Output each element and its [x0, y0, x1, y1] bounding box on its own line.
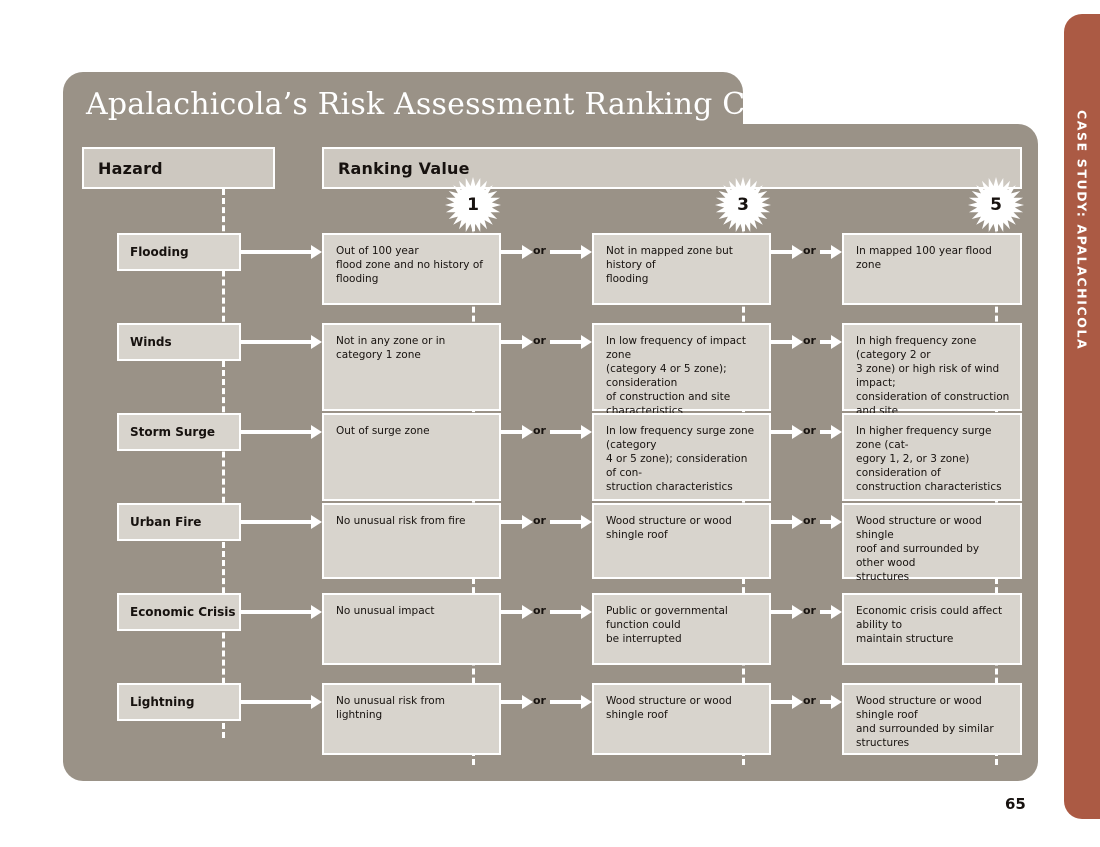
or-connector-label: or: [803, 604, 816, 617]
hazard-label-urban-fire: Urban Fire: [117, 503, 241, 541]
ranking-marker-value: 5: [967, 176, 1025, 234]
or-connector-label: or: [533, 334, 546, 347]
hazard-label-text: Economic Crisis: [119, 605, 236, 619]
or-connector-label: or: [533, 244, 546, 257]
criteria-box-economic-crisis-level1: No unusual impact: [322, 593, 501, 665]
arrow-or-left-row5-1: [501, 605, 533, 619]
criteria-text: In low frequency of impact zone(category…: [606, 334, 759, 418]
criteria-text: Wood structure or wood shingleroof and s…: [856, 514, 1010, 584]
criteria-box-economic-crisis-level5: Economic crisis could affect ability tom…: [842, 593, 1022, 665]
criteria-text: No unusual risk from lightning: [336, 694, 489, 722]
column-header-hazard-label: Hazard: [84, 159, 163, 178]
hazard-label-storm-surge: Storm Surge: [117, 413, 241, 451]
column-header-hazard: Hazard: [82, 147, 275, 189]
criteria-text: Out of surge zone: [336, 424, 489, 438]
or-connector-label: or: [803, 424, 816, 437]
criteria-text: No unusual risk from fire: [336, 514, 489, 528]
arrow-or-left-row3-1: [501, 425, 533, 439]
ranking-marker-value: 3: [714, 176, 772, 234]
criteria-text: Public or governmental function couldbe …: [606, 604, 759, 646]
criteria-box-urban-fire-level5: Wood structure or wood shingleroof and s…: [842, 503, 1022, 579]
arrow-or-left-row1-1: [501, 245, 533, 259]
arrow-or-left-row2-2: [771, 335, 803, 349]
criteria-box-urban-fire-level3: Wood structure or wood shingle roof: [592, 503, 771, 579]
arrow-or-right-row4-1: [550, 515, 592, 529]
criteria-text: Out of 100 yearflood zone and no history…: [336, 244, 489, 286]
or-connector-label: or: [803, 244, 816, 257]
ranking-marker-value: 1: [444, 176, 502, 234]
column-header-ranking-value-label: Ranking Value: [324, 159, 470, 178]
arrow-or-left-row4-2: [771, 515, 803, 529]
arrow-hazard-to-level1-row5: [241, 605, 322, 619]
arrow-or-right-row2-2: [820, 335, 842, 349]
criteria-box-winds-level3: In low frequency of impact zone(category…: [592, 323, 771, 411]
arrow-or-right-row3-2: [820, 425, 842, 439]
arrow-or-right-row5-2: [820, 605, 842, 619]
criteria-text: In higher frequency surge zone (cat-egor…: [856, 424, 1010, 494]
or-connector-label: or: [803, 694, 816, 707]
hazard-label-text: Flooding: [119, 245, 189, 259]
page-title: Apalachicola’s Risk Assessment Ranking C…: [86, 87, 842, 122]
criteria-text: Wood structure or wood shingle roofand s…: [856, 694, 1010, 750]
column-header-ranking-value: Ranking Value: [322, 147, 1022, 189]
ranking-marker-1: 1: [444, 176, 502, 234]
hazard-label-text: Winds: [119, 335, 172, 349]
arrow-hazard-to-level1-row6: [241, 695, 322, 709]
criteria-text: Not in mapped zone but history offloodin…: [606, 244, 759, 286]
arrow-hazard-to-level1-row4: [241, 515, 322, 529]
hazard-label-flooding: Flooding: [117, 233, 241, 271]
criteria-box-winds-level1: Not in any zone or in category 1 zone: [322, 323, 501, 411]
arrow-or-right-row1-2: [820, 245, 842, 259]
arrow-or-left-row2-1: [501, 335, 533, 349]
arrow-hazard-to-level1-row3: [241, 425, 322, 439]
criteria-box-lightning-level3: Wood structure or wood shingle roof: [592, 683, 771, 755]
arrow-hazard-to-level1-row1: [241, 245, 322, 259]
criteria-text: In low frequency surge zone (category4 o…: [606, 424, 759, 494]
criteria-box-winds-level5: In high frequency zone (category 2 or3 z…: [842, 323, 1022, 411]
criteria-box-flooding-level3: Not in mapped zone but history offloodin…: [592, 233, 771, 305]
or-connector-label: or: [533, 514, 546, 527]
criteria-text: Wood structure or wood shingle roof: [606, 694, 759, 722]
or-connector-label: or: [803, 334, 816, 347]
hazard-label-winds: Winds: [117, 323, 241, 361]
arrow-or-right-row6-1: [550, 695, 592, 709]
hazard-label-lightning: Lightning: [117, 683, 241, 721]
criteria-box-lightning-level5: Wood structure or wood shingle roofand s…: [842, 683, 1022, 755]
criteria-box-storm-surge-level5: In higher frequency surge zone (cat-egor…: [842, 413, 1022, 501]
criteria-box-storm-surge-level3: In low frequency surge zone (category4 o…: [592, 413, 771, 501]
criteria-box-flooding-level1: Out of 100 yearflood zone and no history…: [322, 233, 501, 305]
arrow-or-left-row1-2: [771, 245, 803, 259]
hazard-label-economic-crisis: Economic Crisis: [117, 593, 241, 631]
arrow-or-right-row1-1: [550, 245, 592, 259]
case-study-side-tab: CASE STUDY: APALACHICOLA: [1064, 14, 1100, 819]
criteria-box-lightning-level1: No unusual risk from lightning: [322, 683, 501, 755]
page-number: 65: [1005, 795, 1026, 813]
criteria-box-urban-fire-level1: No unusual risk from fire: [322, 503, 501, 579]
criteria-box-flooding-level5: In mapped 100 year flood zone: [842, 233, 1022, 305]
criteria-text: Economic crisis could affect ability tom…: [856, 604, 1010, 646]
hazard-label-text: Urban Fire: [119, 515, 201, 529]
arrow-or-left-row5-2: [771, 605, 803, 619]
or-connector-label: or: [533, 694, 546, 707]
criteria-box-economic-crisis-level3: Public or governmental function couldbe …: [592, 593, 771, 665]
hazard-label-text: Storm Surge: [119, 425, 215, 439]
criteria-text: In mapped 100 year flood zone: [856, 244, 1010, 272]
arrow-or-right-row6-2: [820, 695, 842, 709]
hazard-column-guide: [222, 189, 225, 738]
arrow-or-right-row3-1: [550, 425, 592, 439]
side-tab-label: CASE STUDY: APALACHICOLA: [1075, 110, 1090, 350]
ranking-marker-3: 3: [714, 176, 772, 234]
or-connector-label: or: [533, 604, 546, 617]
ranking-marker-5: 5: [967, 176, 1025, 234]
or-connector-label: or: [533, 424, 546, 437]
arrow-or-left-row6-1: [501, 695, 533, 709]
or-connector-label: or: [803, 514, 816, 527]
arrow-or-left-row6-2: [771, 695, 803, 709]
arrow-hazard-to-level1-row2: [241, 335, 322, 349]
arrow-or-left-row4-1: [501, 515, 533, 529]
criteria-text: Not in any zone or in category 1 zone: [336, 334, 489, 362]
arrow-or-right-row4-2: [820, 515, 842, 529]
criteria-text: No unusual impact: [336, 604, 489, 618]
criteria-box-storm-surge-level1: Out of surge zone: [322, 413, 501, 501]
hazard-label-text: Lightning: [119, 695, 194, 709]
arrow-or-right-row5-1: [550, 605, 592, 619]
criteria-text: Wood structure or wood shingle roof: [606, 514, 759, 542]
arrow-or-right-row2-1: [550, 335, 592, 349]
arrow-or-left-row3-2: [771, 425, 803, 439]
